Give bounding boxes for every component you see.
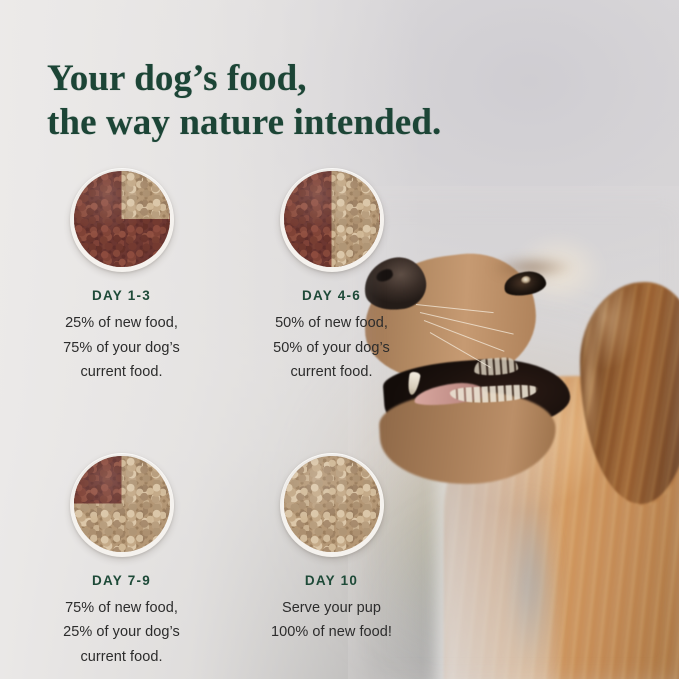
bowl-contents bbox=[74, 171, 170, 267]
desc-line-3: current food. bbox=[33, 360, 210, 385]
bowl-contents bbox=[74, 456, 170, 552]
desc-line-2: 75% of your dog’s bbox=[33, 336, 210, 361]
desc-line-1: Serve your pup bbox=[243, 596, 420, 621]
desc-line-2: 50% of your dog’s bbox=[243, 336, 420, 361]
bowl-day-10 bbox=[280, 453, 384, 557]
desc-line-1: 25% of new food, bbox=[33, 311, 210, 336]
day-label: DAY 7-9 bbox=[33, 573, 210, 588]
desc-line-1: 75% of new food, bbox=[33, 596, 210, 621]
promo-graphic: Your dog’s food, the way nature intended… bbox=[0, 0, 679, 679]
step-description: 75% of new food, 25% of your dog’s curre… bbox=[33, 596, 210, 670]
kibble-new-food bbox=[284, 456, 380, 552]
desc-line-3: current food. bbox=[33, 645, 210, 670]
day-label: DAY 10 bbox=[243, 573, 420, 588]
desc-line-2: 25% of your dog’s bbox=[33, 620, 210, 645]
desc-line-3: current food. bbox=[243, 360, 420, 385]
transition-step-1: DAY 1-3 25% of new food, 75% of your dog… bbox=[33, 168, 210, 385]
day-label: DAY 1-3 bbox=[33, 288, 210, 303]
dog-eye-glint bbox=[521, 276, 532, 285]
desc-line-1: 50% of new food, bbox=[243, 311, 420, 336]
transition-schedule: DAY 1-3 25% of new food, 75% of your dog… bbox=[0, 168, 420, 669]
bowl-contents bbox=[284, 456, 380, 552]
step-description: 25% of new food, 75% of your dog’s curre… bbox=[33, 311, 210, 385]
transition-step-3: DAY 7-9 75% of new food, 25% of your dog… bbox=[33, 453, 210, 670]
transition-row-bottom: DAY 7-9 75% of new food, 25% of your dog… bbox=[0, 453, 420, 670]
headline-line-1: Your dog’s food, bbox=[47, 58, 307, 99]
desc-line-2: 100% of new food! bbox=[243, 620, 420, 645]
step-description: 50% of new food, 50% of your dog’s curre… bbox=[243, 311, 420, 385]
transition-row-top: DAY 1-3 25% of new food, 75% of your dog… bbox=[0, 168, 420, 385]
bowl-contents bbox=[284, 171, 380, 267]
page-title: Your dog’s food, the way nature intended… bbox=[47, 57, 441, 145]
bowl-day-7-9 bbox=[70, 453, 174, 557]
step-description: Serve your pup 100% of new food! bbox=[243, 596, 420, 645]
transition-step-2: DAY 4-6 50% of new food, 50% of your dog… bbox=[243, 168, 420, 385]
headline-line-2: the way nature intended. bbox=[47, 101, 441, 145]
day-label: DAY 4-6 bbox=[243, 288, 420, 303]
bowl-day-1-3 bbox=[70, 168, 174, 272]
transition-step-4: DAY 10 Serve your pup 100% of new food! bbox=[243, 453, 420, 670]
bowl-day-4-6 bbox=[280, 168, 384, 272]
